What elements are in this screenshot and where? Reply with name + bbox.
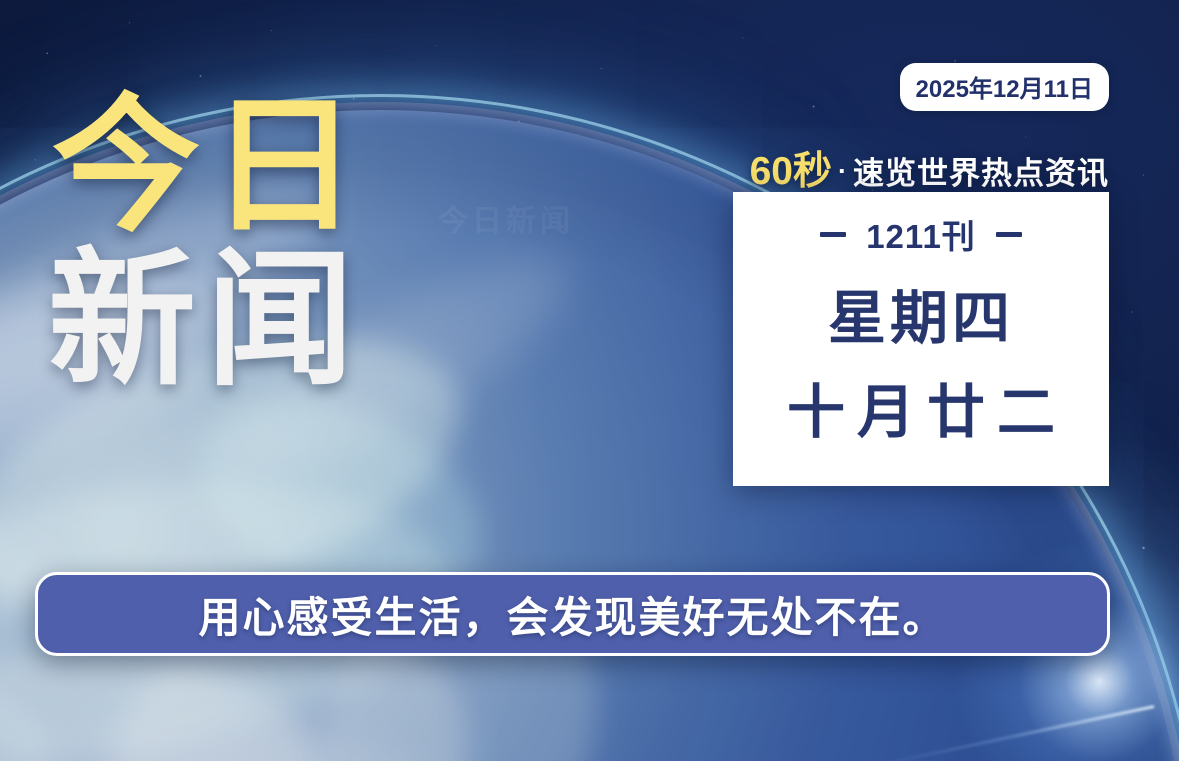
lunar-date-label: 十月廿二	[775, 384, 1067, 442]
issue-number: 1211刊	[866, 210, 976, 258]
dash-right-icon	[996, 232, 1022, 237]
quote-text: 用心感受生活，会发现美好无处不在。	[198, 584, 946, 645]
title-line-news: 新闻	[48, 250, 368, 392]
title-line-today: 今日	[52, 96, 368, 238]
tagline-description: 速览世界热点资讯	[853, 156, 1109, 191]
dash-left-icon	[820, 232, 846, 237]
page-title: 今日 新闻	[52, 96, 368, 392]
tagline: 60秒·速览世界热点资讯	[750, 140, 1109, 196]
date-badge: 2025年12月11日	[900, 63, 1109, 111]
tagline-separator: ·	[838, 156, 847, 186]
issue-info-card: 1211刊 星期四 十月廿二	[733, 192, 1109, 486]
news-poster: 今日新闻 今日 新闻 2025年12月11日 60秒·速览世界热点资讯 1211…	[0, 0, 1179, 761]
weekday-label: 星期四	[828, 290, 1014, 348]
tagline-seconds: 60秒	[750, 150, 832, 193]
quote-banner: 用心感受生活，会发现美好无处不在。	[35, 572, 1110, 656]
issue-row: 1211刊	[820, 210, 1022, 258]
